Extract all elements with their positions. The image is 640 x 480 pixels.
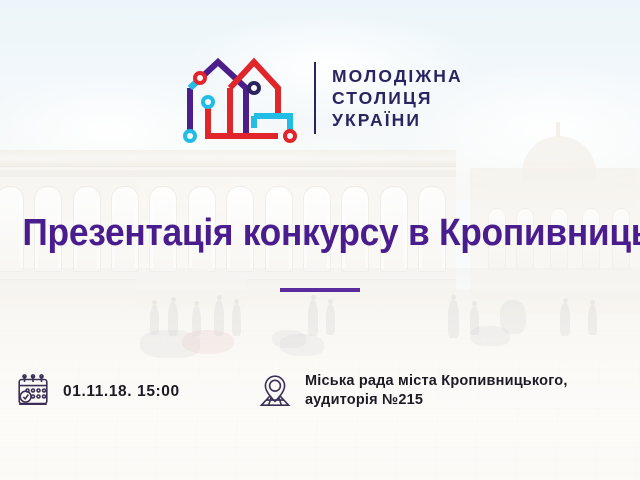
title-divider xyxy=(280,288,360,292)
logo-wordmark: МОЛОДІЖНА СТОЛИЦЯ УКРАЇНИ xyxy=(332,65,463,131)
event-date-block: 01.11.18. 15:00 xyxy=(16,373,258,409)
logo-node xyxy=(285,131,295,141)
map-pin-icon xyxy=(258,373,292,409)
event-venue-text: Міська рада міста Кропивницького, аудито… xyxy=(305,372,568,410)
event-venue-line-1: Міська рада міста Кропивницького, xyxy=(305,372,568,391)
logo-wordmark-line-3: УКРАЇНИ xyxy=(332,109,463,131)
logo-divider xyxy=(314,62,316,134)
logo-node xyxy=(203,97,213,107)
logo-node xyxy=(249,83,259,93)
event-details: 01.11.18. 15:00 Міська рада міста Кропив… xyxy=(16,365,630,417)
logo-wordmark-line-2: СТОЛИЦЯ xyxy=(332,87,463,109)
logo-node xyxy=(185,131,195,141)
event-poster: МОЛОДІЖНА СТОЛИЦЯ УКРАЇНИ Презентація ко… xyxy=(0,0,640,480)
logo-wordmark-line-1: МОЛОДІЖНА xyxy=(332,65,463,87)
youth-capital-logo: МОЛОДІЖНА СТОЛИЦЯ УКРАЇНИ xyxy=(178,48,488,148)
event-date-text: 01.11.18. 15:00 xyxy=(63,382,180,401)
page-title: Презентація конкурсу в Кропивницькому xyxy=(22,211,617,255)
calendar-icon xyxy=(16,373,50,409)
event-venue-block: Міська рада міста Кропивницького, аудито… xyxy=(258,372,568,410)
logo-node xyxy=(195,73,205,83)
event-venue-line-2: аудиторія №215 xyxy=(305,391,568,410)
youth-capital-houses-logo-icon xyxy=(178,50,306,146)
